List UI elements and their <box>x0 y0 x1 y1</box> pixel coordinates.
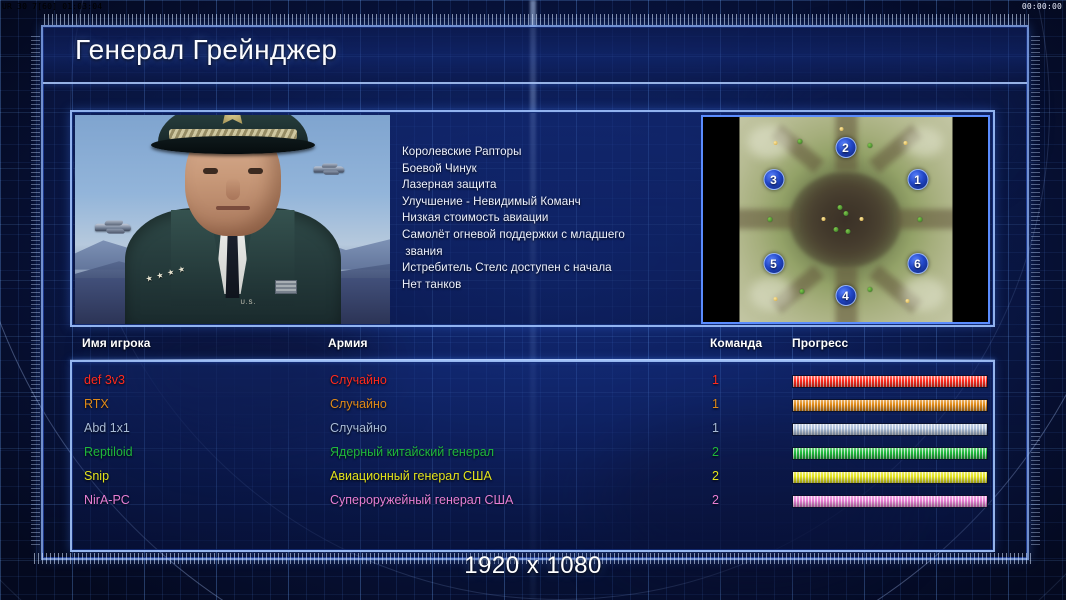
header-army: Армия <box>328 336 368 350</box>
portrait-mouth <box>216 206 250 210</box>
map-start-position-5: 5 <box>763 253 784 274</box>
portrait-nose <box>226 178 240 200</box>
top-status-bar: UR 30 7[60] 01:03:04 00:00:00 <box>0 0 1066 13</box>
us-insignia-icon: U.S. <box>241 300 257 306</box>
map-tree-icon <box>799 289 804 294</box>
table-row[interactable]: Abd 1x1Случайно1 <box>72 418 993 442</box>
map-start-position-4: 4 <box>835 285 856 306</box>
progress-shading <box>793 496 987 507</box>
player-list-panel: def 3v3Случайно1RTXСлучайно1Abd 1x1Случа… <box>70 360 995 552</box>
map-terrain-light <box>747 125 791 159</box>
top-status-left: UR 30 7[60] 01:03:04 <box>2 0 102 13</box>
map-terrain-light <box>901 277 945 311</box>
map-image: 123456 <box>739 117 952 322</box>
header-player-name: Имя игрока <box>82 336 151 350</box>
player-table-header: Имя игрока Армия Команда Прогресс <box>70 336 995 358</box>
header-team: Команда <box>710 336 762 350</box>
player-progress-bar <box>792 375 988 388</box>
map-supply-icon <box>859 217 863 221</box>
player-team: 1 <box>712 421 719 435</box>
ruler-right <box>1031 36 1040 546</box>
map-lane <box>897 209 952 229</box>
player-name: Abd 1x1 <box>84 421 130 435</box>
progress-shading <box>793 376 987 387</box>
progress-shading <box>793 424 987 435</box>
top-status-left-text: UR 30 7[60] 01:03:04 <box>2 2 102 11</box>
portrait-cap-brim <box>151 136 315 154</box>
aircraft-icon <box>95 224 131 231</box>
map-tree-icon <box>867 287 872 292</box>
map-terrain-light <box>903 127 943 157</box>
map-start-position-1: 1 <box>907 169 928 190</box>
player-progress-bar <box>792 447 988 460</box>
resolution-label: 1920 x 1080 <box>0 552 1066 580</box>
map-supply-icon <box>905 299 909 303</box>
player-team: 2 <box>712 469 719 483</box>
map-supply-icon <box>903 141 907 145</box>
ruler-left <box>31 36 40 546</box>
map-supply-icon <box>773 297 777 301</box>
player-army: Ядерный китайский генерал <box>330 445 494 459</box>
map-terrain-light <box>749 277 793 311</box>
general-info-panel: ★★★★ U.S. Королевские Рапторы Боевой Чин… <box>70 110 995 327</box>
progress-shading <box>793 472 987 483</box>
progress-shading <box>793 448 987 459</box>
player-team: 1 <box>712 397 719 411</box>
player-progress-bar <box>792 423 988 436</box>
portrait-eye-left <box>203 168 218 174</box>
map-center-crater <box>790 172 902 268</box>
map-tree-icon <box>767 217 772 222</box>
map-tree-icon <box>837 205 842 210</box>
player-army: Случайно <box>330 421 387 435</box>
map-preview[interactable]: 123456 <box>701 115 990 324</box>
player-name: Snip <box>84 469 109 483</box>
player-army: Супероружейный генерал США <box>330 493 513 507</box>
map-supply-icon <box>821 217 825 221</box>
player-name: Reptiloid <box>84 445 133 459</box>
player-progress-bar <box>792 399 988 412</box>
player-progress-bar <box>792 471 988 484</box>
aircraft-icon <box>314 166 345 172</box>
player-team: 2 <box>712 493 719 507</box>
progress-shading <box>793 400 987 411</box>
player-team: 1 <box>712 373 719 387</box>
map-supply-icon <box>773 141 777 145</box>
player-name: RTX <box>84 397 109 411</box>
player-army: Случайно <box>330 397 387 411</box>
player-name: def 3v3 <box>84 373 125 387</box>
table-row[interactable]: SnipАвиационный генерал США2 <box>72 466 993 490</box>
player-progress-bar <box>792 495 988 508</box>
map-start-position-6: 6 <box>907 253 928 274</box>
map-tree-icon <box>797 139 802 144</box>
top-status-clock: 00:00:00 <box>1022 0 1062 13</box>
general-portrait: ★★★★ U.S. <box>75 115 390 324</box>
player-team: 2 <box>712 445 719 459</box>
map-tree-icon <box>917 217 922 222</box>
title-bar: Генерал Грейнджер <box>43 27 1027 84</box>
table-row[interactable]: RTXСлучайно1 <box>72 394 993 418</box>
map-supply-icon <box>839 127 843 131</box>
ribbons-icon <box>275 280 297 294</box>
map-start-position-2: 2 <box>835 137 856 158</box>
table-row[interactable]: ReptiloidЯдерный китайский генерал2 <box>72 442 993 466</box>
map-start-position-3: 3 <box>763 169 784 190</box>
table-row[interactable]: def 3v3Случайно1 <box>72 370 993 394</box>
map-tree-icon <box>843 211 848 216</box>
player-name: NirA-PC <box>84 493 130 507</box>
map-tree-icon <box>845 229 850 234</box>
map-tree-icon <box>833 227 838 232</box>
player-army: Случайно <box>330 373 387 387</box>
player-army: Авиационный генерал США <box>330 469 492 483</box>
table-row[interactable]: NirA-PCСупероружейный генерал США2 <box>72 490 993 514</box>
portrait-eye-right <box>248 168 263 174</box>
map-tree-icon <box>867 143 872 148</box>
page-title: Генерал Грейнджер <box>75 34 337 66</box>
ruler-top <box>44 14 1029 25</box>
header-progress: Прогресс <box>792 336 848 350</box>
